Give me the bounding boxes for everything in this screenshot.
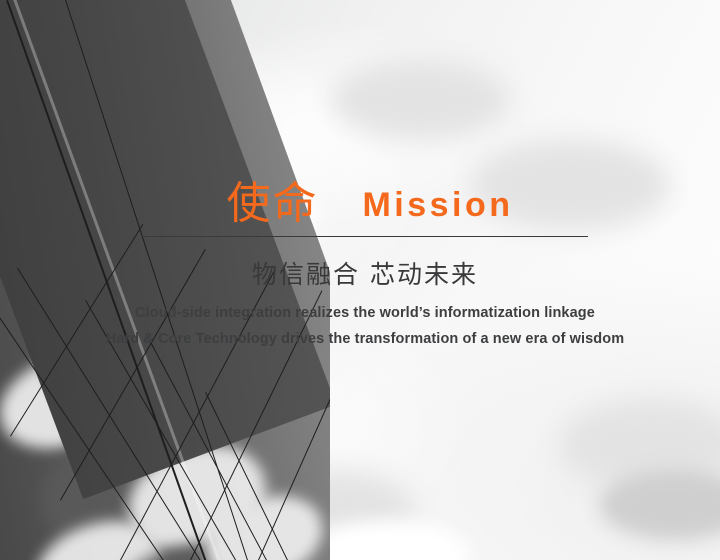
title-english: Mission <box>362 186 513 224</box>
mission-slide: 使命 Mission 物信融合 芯动未来 Cloud-side integrat… <box>0 0 720 560</box>
title-chinese: 使命 <box>226 182 318 226</box>
tagline-line-1: Cloud-side integration realizes the worl… <box>80 303 650 323</box>
page-title: 使命 Mission <box>140 168 600 226</box>
title-divider <box>141 236 588 237</box>
tagline-line-2: Hard & Core Technology drives the transf… <box>80 329 650 349</box>
subtitle-chinese: 物信融合 芯动未来 <box>120 260 610 290</box>
cloud-11 <box>330 60 510 140</box>
